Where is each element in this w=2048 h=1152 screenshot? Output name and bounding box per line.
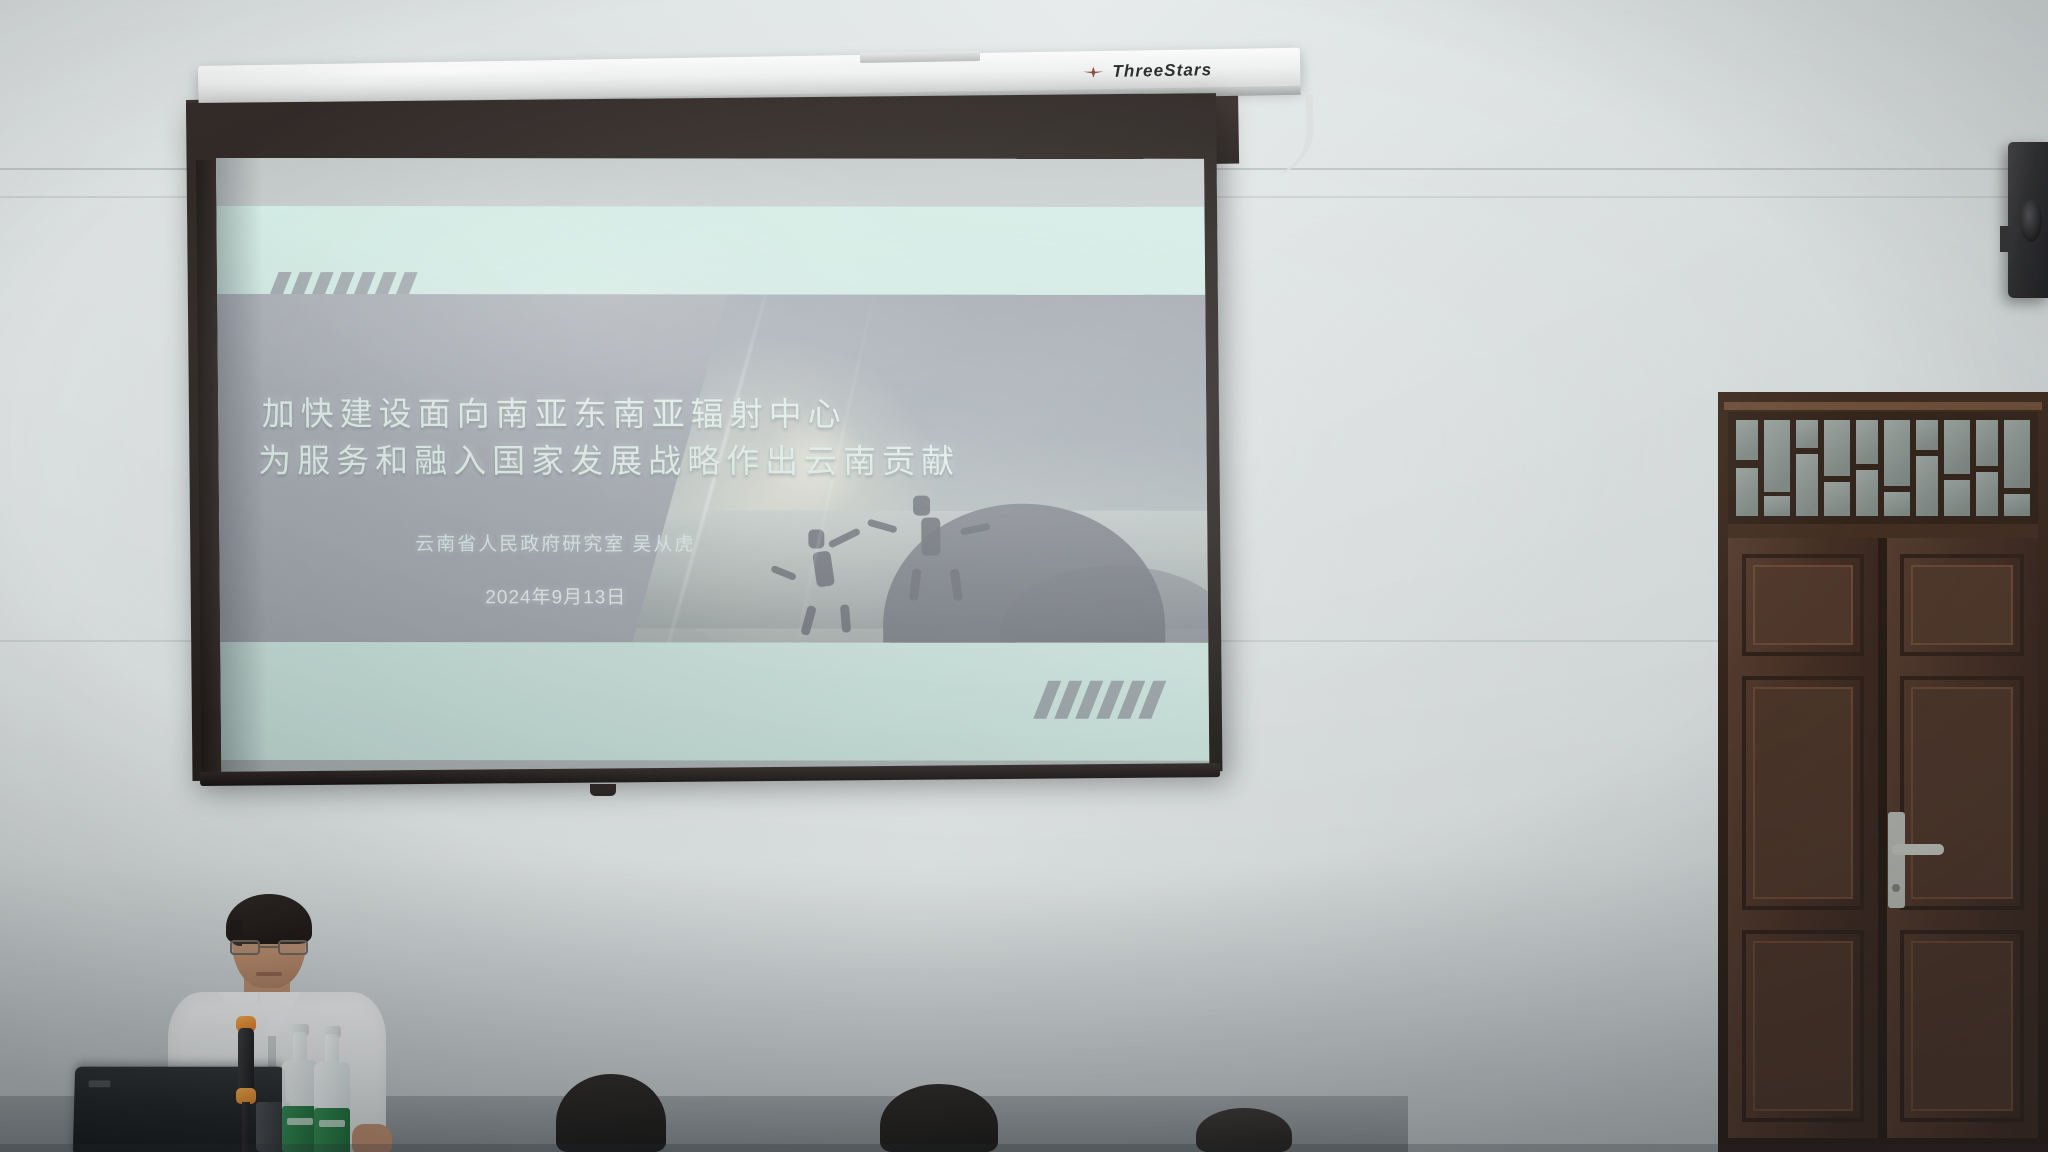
wall-speaker-icon [2008,142,2048,298]
silhouette-figure-standing [913,496,930,516]
slide-date: 2024年9月13日 [259,582,852,610]
screen-mount-bracket [860,51,980,63]
brand-label: ThreeStars [1112,60,1212,82]
bottle-neck [325,1034,339,1064]
projection-surface[interactable]: 加快建设面向南亚东南亚辐射中心 为服务和融入国家发展战略作出云南贡献 云南省人民… [216,158,1209,779]
photo-scene: ThreeStars [0,0,2048,1152]
silhouette-figure-standing [921,518,940,556]
threestars-logo-icon [1083,66,1103,77]
bottle-neck [293,1032,307,1062]
speaker-bracket [2000,226,2012,252]
slide-top-band [216,206,1205,295]
slide-bottom-band [220,642,1209,761]
slide-body: 加快建设面向南亚东南亚辐射中心 为服务和融入国家发展战略作出云南贡献 云南省人民… [217,294,1208,643]
glasses-icon [230,940,310,956]
presentation-slide: 加快建设面向南亚东南亚辐射中心 为服务和融入国家发展战略作出云南贡献 云南省人民… [216,158,1209,779]
mic-body [238,1028,254,1092]
slide-title-line-1: 加快建设面向南亚东南亚辐射中心 [258,391,851,438]
laptop-logo-icon [89,1080,111,1087]
screen-brand: ThreeStars [1083,60,1212,82]
slide-title-line-2: 为服务和融入国家发展战略作出云南贡献 [258,438,851,485]
presenter-mouth [256,972,282,976]
slide-top-margin [216,158,1204,207]
presenter-hair [226,894,312,944]
screen-pull-tab[interactable] [590,784,616,796]
slide-author: 云南省人民政府研究室 吴从虎 [259,529,852,557]
foreground-desk-edge [0,1144,2048,1152]
slide-text-block: 加快建设面向南亚东南亚辐射中心 为服务和融入国家发展战略作出云南贡献 云南省人民… [258,391,853,609]
water-bottle [312,1034,352,1152]
case-highlight [286,63,617,76]
slash-decoration-bottom [1041,681,1159,719]
wooden-double-door[interactable] [1718,392,2048,1152]
